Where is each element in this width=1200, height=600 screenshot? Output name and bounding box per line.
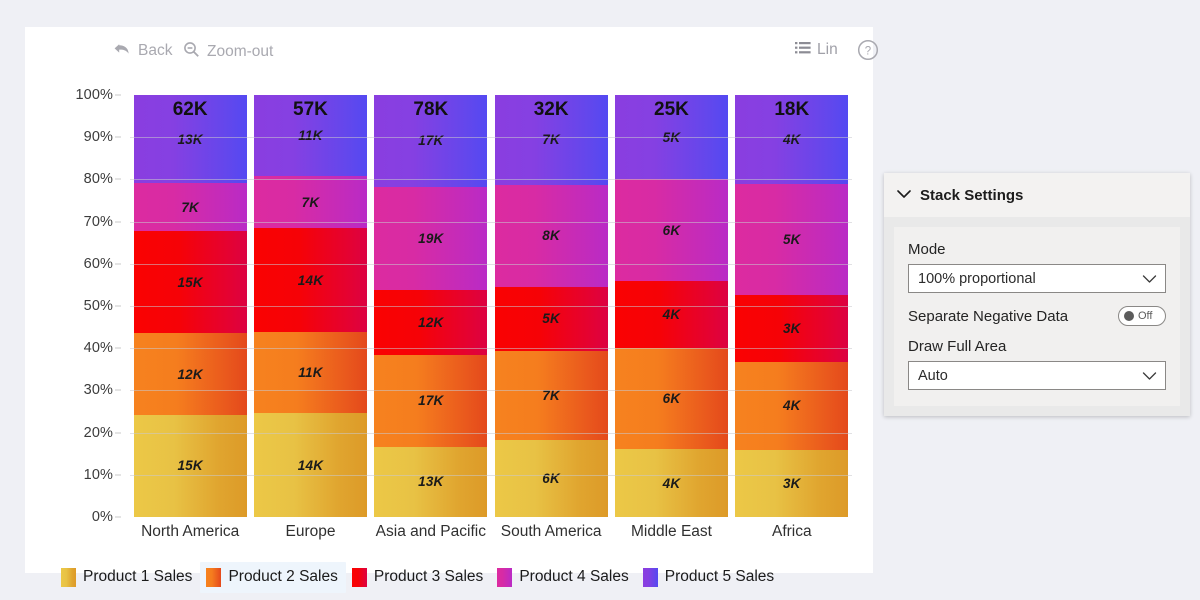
bar-segment-label: 6K [663, 223, 681, 238]
bar-column[interactable]: 17K19K12K17K13K78K [371, 95, 491, 517]
bar-segment-label: 19K [418, 231, 443, 246]
stack-settings-panel: Stack Settings Mode 100% proportional Se… [884, 173, 1190, 416]
list-icon [795, 41, 811, 60]
stack-settings-title: Stack Settings [920, 187, 1023, 204]
bar-segment-label: 4K [783, 132, 801, 147]
bar-stack[interactable]: 17K19K12K17K13K78K [374, 95, 487, 517]
legend-swatch [497, 568, 512, 587]
bar-segment[interactable]: 17K [374, 355, 487, 447]
legend-swatch [352, 568, 367, 587]
bar-segment[interactable]: 7K [495, 95, 608, 185]
bar-segment[interactable]: 7K [254, 176, 367, 228]
y-axis-tick-mark [115, 390, 121, 391]
bar-segment-label: 15K [177, 458, 202, 473]
x-axis-label[interactable]: South America [491, 519, 611, 547]
bar-segment[interactable]: 12K [134, 333, 247, 415]
y-axis-tick-mark [115, 179, 121, 180]
bar-segment-label: 4K [663, 476, 681, 491]
bar-segment-label: 7K [542, 388, 560, 403]
stack-settings-header[interactable]: Stack Settings [884, 173, 1190, 217]
y-axis-tick-label: 90% [84, 129, 113, 145]
bar-segment[interactable]: 3K [735, 295, 848, 362]
bar-segment[interactable]: 19K [374, 187, 487, 290]
bar-segment-label: 5K [663, 130, 681, 145]
svg-text:?: ? [865, 45, 871, 57]
draw-full-area-label: Draw Full Area [908, 338, 1166, 355]
separate-negative-data-label: Separate Negative Data [908, 308, 1068, 325]
x-axis-label[interactable]: Africa [732, 519, 852, 547]
bar-segment[interactable]: 5K [735, 184, 848, 295]
x-axis: North AmericaEuropeAsia and PacificSouth… [130, 519, 852, 547]
y-axis-tick-label: 100% [76, 87, 114, 103]
bar-segment[interactable]: 7K [134, 183, 247, 231]
toggle-knob-icon [1124, 311, 1134, 321]
bar-segment[interactable]: 4K [615, 281, 728, 349]
legend-item[interactable]: Product 5 Sales [637, 562, 782, 593]
bar-segment[interactable]: 15K [134, 231, 247, 333]
back-arrow-icon [113, 41, 131, 62]
bar-segment-label: 14K [298, 458, 323, 473]
bar-segment[interactable]: 3K [735, 450, 848, 517]
bar-segment-label: 4K [663, 307, 681, 322]
bar-segment-label: 5K [783, 232, 801, 247]
x-axis-label[interactable]: North America [130, 519, 250, 547]
y-axis-tick-mark [115, 263, 121, 264]
magnifier-minus-icon [183, 41, 200, 63]
bar-segment[interactable]: 13K [374, 447, 487, 517]
bar-stack[interactable]: 5K6K4K6K4K25K [615, 95, 728, 517]
bar-stack[interactable]: 7K8K5K7K6K32K [495, 95, 608, 517]
y-axis-tick-label: 40% [84, 340, 113, 356]
y-axis-tick-label: 80% [84, 171, 113, 187]
bar-segment[interactable]: 6K [615, 348, 728, 449]
y-axis: 100%90%80%70%60%50%40%30%20%10%0% [25, 95, 125, 517]
bar-segment-label: 3K [783, 321, 801, 336]
y-axis-tick-label: 0% [92, 509, 113, 525]
bar-segment[interactable]: 13K [134, 95, 247, 183]
mode-select-value: 100% proportional [918, 271, 1036, 287]
bar-segment[interactable]: 4K [735, 362, 848, 451]
bar-stack[interactable]: 13K7K15K12K15K62K [134, 95, 247, 517]
bars-layer: 13K7K15K12K15K62K11K7K14K11K14K57K17K19K… [130, 95, 852, 517]
y-axis-tick-label: 60% [84, 256, 113, 272]
legend-label: Product 5 Sales [665, 568, 774, 586]
x-axis-label[interactable]: Middle East [611, 519, 731, 547]
bar-segment-label: 5K [542, 311, 560, 326]
bar-segment-label: 13K [418, 474, 443, 489]
bar-segment[interactable]: 11K [254, 332, 367, 413]
bar-segment-label: 7K [542, 132, 560, 147]
legend-label: Product 1 Sales [83, 568, 192, 586]
back-button[interactable]: Back [113, 41, 172, 62]
legend-label: Product 3 Sales [374, 568, 483, 586]
legend-swatch [206, 568, 221, 587]
bar-segment[interactable]: 8K [495, 185, 608, 287]
bar-segment-label: 11K [298, 365, 322, 380]
scale-mode-label: Lin [817, 42, 838, 59]
legend-swatch [643, 568, 658, 587]
scale-mode-button[interactable]: Lin [795, 41, 838, 60]
legend-label: Product 4 Sales [519, 568, 628, 586]
bar-column[interactable]: 7K8K5K7K6K32K [491, 95, 611, 517]
x-axis-label[interactable]: Europe [250, 519, 370, 547]
help-circle-icon: ? [857, 39, 879, 66]
bar-segment-label: 12K [177, 367, 202, 382]
y-axis-tick-label: 30% [84, 382, 113, 398]
chart-toolbar: Back Zoom-out [25, 27, 873, 75]
legend-item[interactable]: Product 4 Sales [491, 562, 636, 593]
back-label: Back [138, 43, 172, 60]
chevron-down-icon [897, 186, 911, 204]
bar-segment[interactable]: 17K [374, 95, 487, 187]
bar-segment[interactable]: 4K [615, 449, 728, 517]
separate-negative-data-toggle[interactable]: Off [1118, 306, 1166, 326]
chevron-down-icon [1142, 274, 1157, 284]
bar-column[interactable]: 13K7K15K12K15K62K [130, 95, 250, 517]
bar-segment[interactable]: 14K [254, 413, 367, 517]
legend-item[interactable]: Product 1 Sales [55, 562, 200, 593]
bar-segment[interactable]: 5K [615, 95, 728, 179]
y-axis-tick-mark [115, 474, 121, 475]
help-button[interactable]: ? [857, 39, 879, 66]
bar-segment-label: 4K [783, 398, 801, 413]
y-axis-tick-mark [115, 517, 121, 518]
chevron-down-icon [1142, 371, 1157, 381]
bar-stack[interactable]: 4K5K3K4K3K18K [735, 95, 848, 517]
bar-segment-label: 14K [298, 273, 323, 288]
y-axis-tick-mark [115, 432, 121, 433]
legend-item[interactable]: Product 2 Sales [200, 562, 345, 593]
mode-label: Mode [908, 241, 1166, 258]
draw-full-area-select-value: Auto [918, 368, 948, 384]
zoom-out-label: Zoom-out [207, 44, 273, 61]
chart-legend: Product 1 SalesProduct 2 SalesProduct 3 … [25, 555, 873, 599]
bar-segment[interactable]: 6K [495, 440, 608, 517]
bar-segment-label: 12K [418, 315, 443, 330]
draw-full-area-select[interactable]: Auto [908, 361, 1166, 390]
bar-segment[interactable]: 11K [254, 95, 367, 176]
y-axis-tick-label: 20% [84, 425, 113, 441]
separate-negative-data-row: Separate Negative Data Off [908, 306, 1166, 326]
mode-select[interactable]: 100% proportional [908, 264, 1166, 293]
bar-segment-label: 8K [542, 228, 560, 243]
bar-segment[interactable]: 14K [254, 228, 367, 332]
bar-segment-label: 17K [418, 133, 443, 148]
bar-segment[interactable]: 12K [374, 290, 487, 355]
stack-settings-body: Mode 100% proportional Separate Negative… [894, 227, 1180, 406]
bar-segment-label: 17K [418, 393, 443, 408]
chart-card: Back Zoom-out [25, 27, 873, 573]
x-axis-label[interactable]: Asia and Pacific [371, 519, 491, 547]
bar-segment-label: 11K [298, 128, 322, 143]
zoom-out-button[interactable]: Zoom-out [183, 41, 273, 63]
bar-segment-label: 7K [302, 195, 320, 210]
bar-segment[interactable]: 7K [495, 351, 608, 441]
y-axis-tick-label: 50% [84, 298, 113, 314]
bar-segment-label: 15K [177, 275, 202, 290]
y-axis-tick-mark [115, 95, 121, 96]
y-axis-tick-mark [115, 137, 121, 138]
legend-item[interactable]: Product 3 Sales [346, 562, 491, 593]
legend-label: Product 2 Sales [228, 568, 337, 586]
bar-column[interactable]: 5K6K4K6K4K25K [611, 95, 731, 517]
bar-column[interactable]: 11K7K14K11K14K57K [250, 95, 370, 517]
bar-segment[interactable]: 15K [134, 415, 247, 517]
bar-segment-label: 6K [663, 391, 681, 406]
plot-area: 13K7K15K12K15K62K11K7K14K11K14K57K17K19K… [130, 95, 852, 517]
bar-column[interactable]: 4K5K3K4K3K18K [732, 95, 852, 517]
bar-segment-label: 13K [177, 132, 202, 147]
bar-segment[interactable]: 6K [615, 179, 728, 280]
bar-stack[interactable]: 11K7K14K11K14K57K [254, 95, 367, 517]
y-axis-tick-label: 70% [84, 214, 113, 230]
bar-segment[interactable]: 5K [495, 287, 608, 351]
y-axis-tick-label: 10% [84, 467, 113, 483]
bar-segment-label: 7K [181, 200, 199, 215]
y-axis-tick-mark [115, 221, 121, 222]
bar-segment[interactable]: 4K [735, 95, 848, 184]
toggle-state-label: Off [1138, 310, 1152, 322]
y-axis-tick-mark [115, 348, 121, 349]
legend-swatch [61, 568, 76, 587]
y-axis-tick-mark [115, 306, 121, 307]
bar-segment-label: 6K [542, 471, 560, 486]
bar-segment-label: 3K [783, 476, 801, 491]
